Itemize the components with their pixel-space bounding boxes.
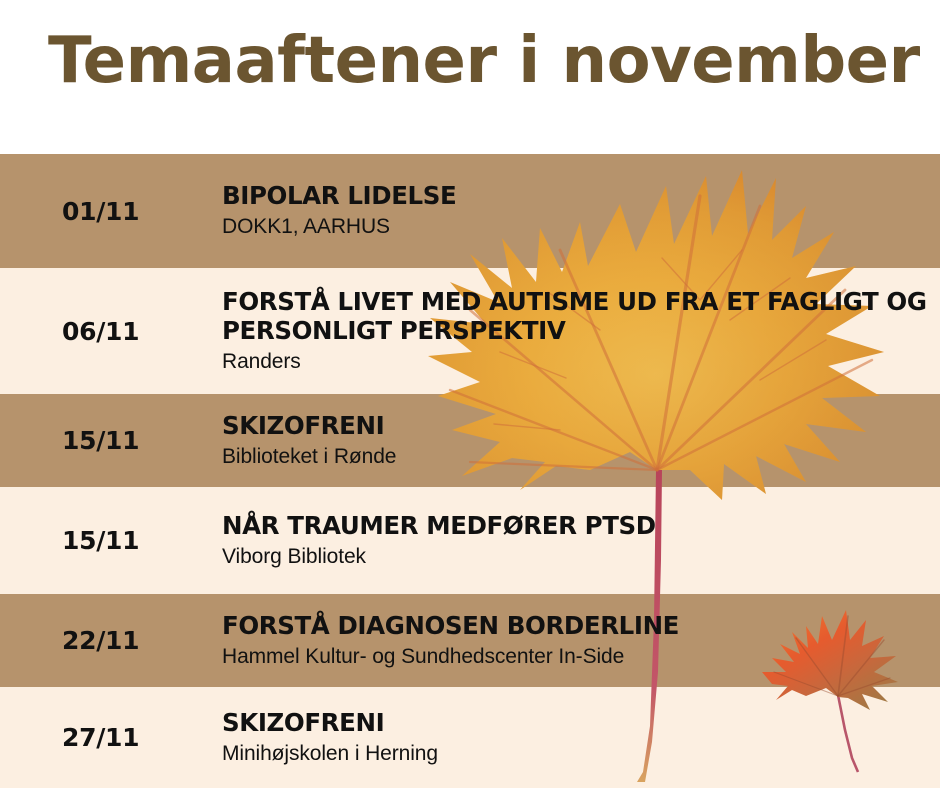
event-venue-2: Randers	[222, 349, 930, 375]
page-title: Temaaftener i november	[48, 28, 920, 95]
event-date-1: 01/11	[62, 197, 212, 226]
event-title-2: FORSTÅ LIVET MED AUTISME UD FRA ET FAGLI…	[222, 287, 930, 347]
event-venue-1: DOKK1, AARHUS	[222, 214, 930, 240]
event-venue-5: Hammel Kultur- og Sundhedscenter In-Side	[222, 644, 930, 670]
event-venue-3: Biblioteket i Rønde	[222, 444, 930, 470]
event-title-4: NÅR TRAUMER MEDFØRER PTSD	[222, 511, 930, 541]
schedule-row-2[interactable]: 06/11 FORSTÅ LIVET MED AUTISME UD FRA ET…	[0, 268, 940, 394]
event-text-6: SKIZOFRENI Minihøjskolen i Herning	[222, 708, 930, 767]
event-date-4: 15/11	[62, 526, 212, 555]
event-text-4: NÅR TRAUMER MEDFØRER PTSD Viborg Bibliot…	[222, 511, 930, 570]
schedule-row-4[interactable]: 15/11 NÅR TRAUMER MEDFØRER PTSD Viborg B…	[0, 487, 940, 594]
poster-header: Temaaftener i november	[0, 0, 940, 154]
event-date-3: 15/11	[62, 426, 212, 455]
schedule-row-5[interactable]: 22/11 FORSTÅ DIAGNOSEN BORDERLINE Hammel…	[0, 594, 940, 687]
poster-canvas: Temaaftener i november 01/11 BIPOLAR LID…	[0, 0, 940, 788]
event-text-5: FORSTÅ DIAGNOSEN BORDERLINE Hammel Kultu…	[222, 611, 930, 670]
event-title-1: BIPOLAR LIDELSE	[222, 181, 930, 211]
schedule-row-6[interactable]: 27/11 SKIZOFRENI Minihøjskolen i Herning	[0, 687, 940, 788]
event-date-2: 06/11	[62, 317, 212, 346]
schedule-row-3[interactable]: 15/11 SKIZOFRENI Biblioteket i Rønde	[0, 394, 940, 487]
event-date-5: 22/11	[62, 626, 212, 655]
event-text-1: BIPOLAR LIDELSE DOKK1, AARHUS	[222, 181, 930, 240]
event-venue-6: Minihøjskolen i Herning	[222, 741, 930, 767]
event-title-5: FORSTÅ DIAGNOSEN BORDERLINE	[222, 611, 930, 641]
event-text-2: FORSTÅ LIVET MED AUTISME UD FRA ET FAGLI…	[222, 287, 930, 376]
event-title-6: SKIZOFRENI	[222, 708, 930, 738]
event-title-3: SKIZOFRENI	[222, 411, 930, 441]
event-date-6: 27/11	[62, 723, 212, 752]
event-venue-4: Viborg Bibliotek	[222, 544, 930, 570]
event-text-3: SKIZOFRENI Biblioteket i Rønde	[222, 411, 930, 470]
schedule-row-1[interactable]: 01/11 BIPOLAR LIDELSE DOKK1, AARHUS	[0, 154, 940, 268]
